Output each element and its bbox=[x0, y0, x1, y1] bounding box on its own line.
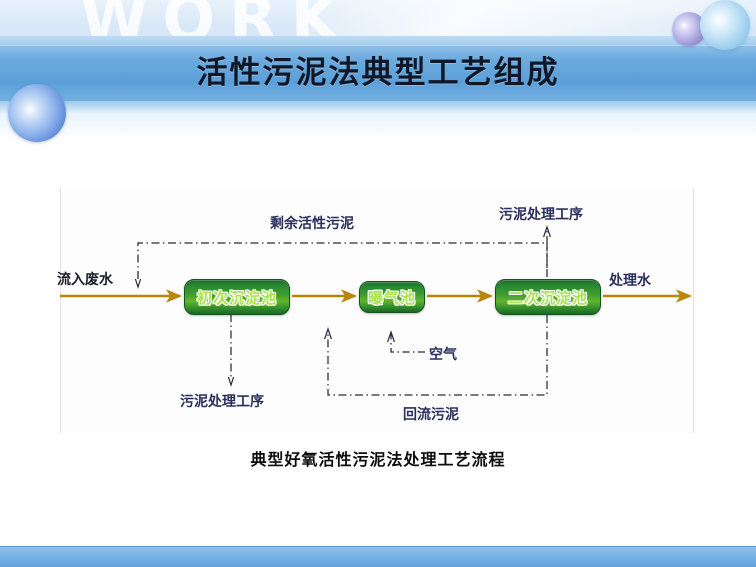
process-box-label: 初次沉淀池 bbox=[197, 287, 277, 308]
process-box-label: 二次沉淀池 bbox=[508, 287, 588, 308]
diagram-caption: 典型好氧活性污泥法处理工艺流程 bbox=[0, 446, 756, 470]
label-sludge-process-right: 污泥处理工序 bbox=[499, 204, 583, 224]
decorative-sphere-large-right bbox=[700, 0, 750, 50]
process-box-secondary-sedimentation-tank[interactable]: 二次沉淀池 bbox=[495, 279, 601, 315]
label-air: 空气 bbox=[429, 344, 457, 364]
process-box-primary-sedimentation-tank[interactable]: 初次沉淀池 bbox=[184, 279, 290, 315]
label-inflow-wastewater: 流入废水 bbox=[57, 269, 113, 289]
header-thin-strip bbox=[0, 36, 756, 45]
page-title: 活性污泥法典型工艺组成 bbox=[0, 50, 756, 96]
process-box-label: 曝气池 bbox=[368, 287, 416, 308]
slide-canvas: WORK 活性污泥法典型工艺组成 初次沉淀池 曝气池 二次沉淀池 流入废水 处理… bbox=[0, 0, 756, 567]
label-return-sludge: 回流污泥 bbox=[403, 404, 459, 424]
label-excess-activated-sludge: 剩余活性污泥 bbox=[270, 213, 354, 233]
label-treated-water: 处理水 bbox=[609, 270, 651, 290]
process-box-aeration-tank[interactable]: 曝气池 bbox=[359, 281, 425, 313]
title-banner-fade bbox=[0, 113, 756, 139]
label-sludge-process-left: 污泥处理工序 bbox=[180, 391, 264, 411]
title-banner-lowlight bbox=[0, 101, 756, 113]
footer-bar bbox=[0, 546, 756, 567]
decorative-sphere-left bbox=[8, 84, 66, 142]
